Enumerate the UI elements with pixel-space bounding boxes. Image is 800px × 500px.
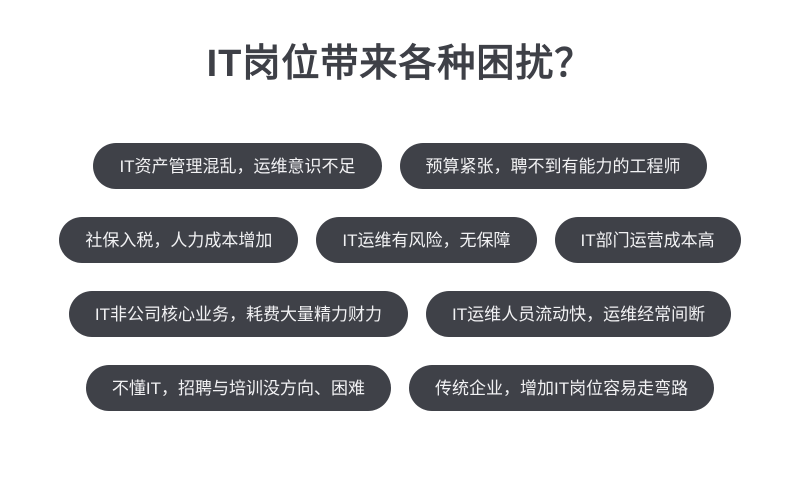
pain-point-pill[interactable]: 不懂IT，招聘与培训没方向、困难 [86, 365, 391, 411]
pain-point-pill[interactable]: IT运维有风险，无保障 [316, 217, 536, 263]
pain-point-pill[interactable]: IT非公司核心业务，耗费大量精力财力 [69, 291, 408, 337]
pain-point-pill[interactable]: 预算紧张，聘不到有能力的工程师 [400, 143, 707, 189]
pain-point-pill[interactable]: 社保入税，人力成本增加 [59, 217, 298, 263]
pain-point-list: IT资产管理混乱，运维意识不足 预算紧张，聘不到有能力的工程师 社保入税，人力成… [0, 143, 800, 411]
poster-canvas: IT岗位带来各种困扰？ IT资产管理混乱，运维意识不足 预算紧张，聘不到有能力的… [0, 0, 800, 500]
pain-point-row-4: 不懂IT，招聘与培训没方向、困难 传统企业，增加IT岗位容易走弯路 [0, 365, 800, 411]
pain-point-row-3: IT非公司核心业务，耗费大量精力财力 IT运维人员流动快，运维经常间断 [0, 291, 800, 337]
pain-point-row-1: IT资产管理混乱，运维意识不足 预算紧张，聘不到有能力的工程师 [0, 143, 800, 189]
pain-point-pill[interactable]: IT资产管理混乱，运维意识不足 [93, 143, 381, 189]
pain-point-pill[interactable]: 传统企业，增加IT岗位容易走弯路 [409, 365, 714, 411]
page-title: IT岗位带来各种困扰？ [0, 45, 800, 83]
pain-point-row-2: 社保入税，人力成本增加 IT运维有风险，无保障 IT部门运营成本高 [0, 217, 800, 263]
pain-point-pill[interactable]: IT部门运营成本高 [555, 217, 741, 263]
pain-point-pill[interactable]: IT运维人员流动快，运维经常间断 [426, 291, 731, 337]
